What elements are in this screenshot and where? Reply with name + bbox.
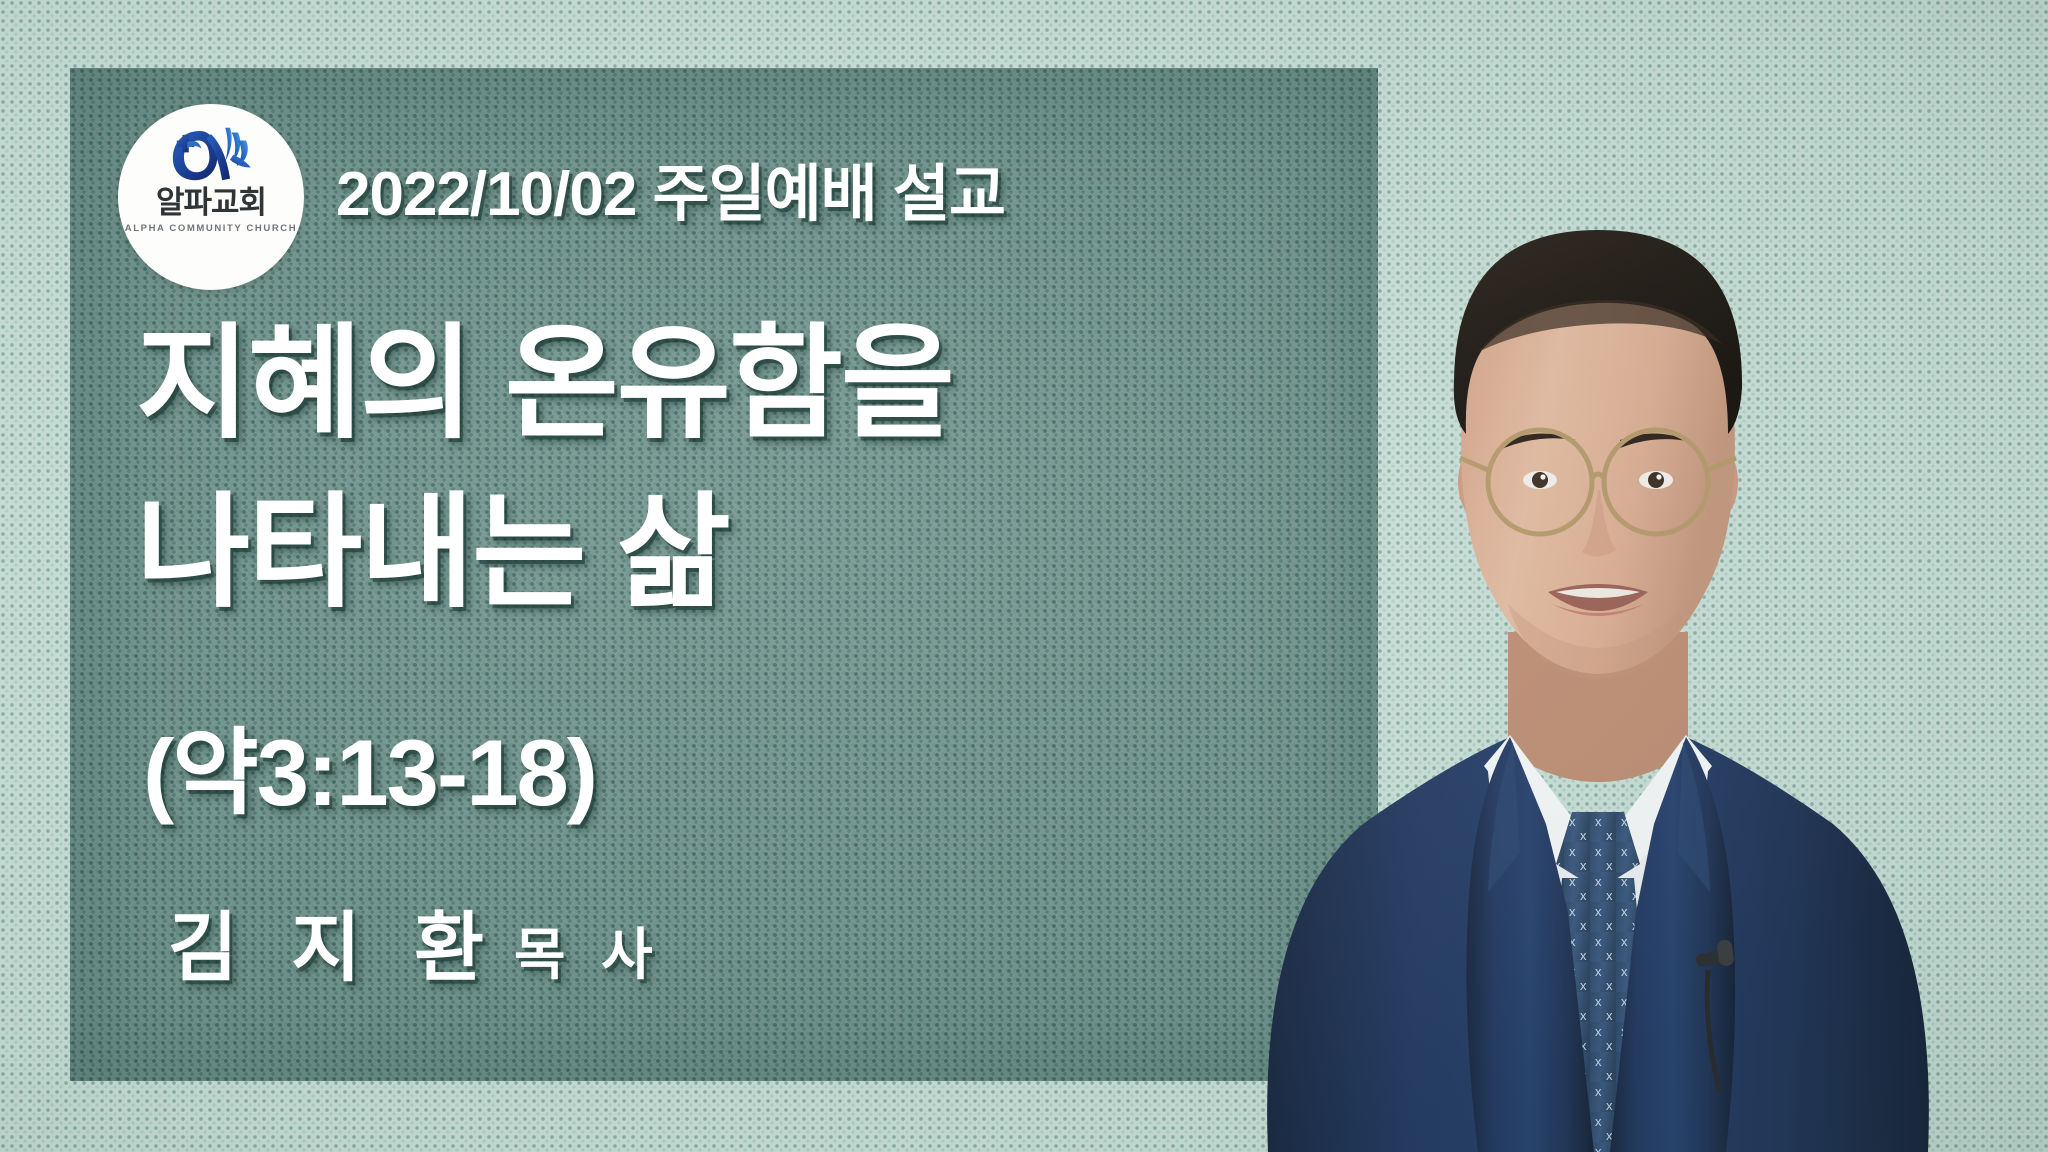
alpha-leaf-icon xyxy=(163,123,259,185)
sermon-title-slide: x x xyxy=(0,0,2048,1152)
speaker-row: 김 지 환 목 사 xyxy=(168,886,663,996)
logo-korean-name: 알파교회 xyxy=(156,187,266,218)
speaker-name: 김 지 환 xyxy=(168,886,500,996)
presenter-photo: x x xyxy=(1148,152,2048,1152)
logo-english-name: ALPHA COMMUNITY CHURCH xyxy=(125,223,297,234)
service-line: 2022/10/02 주일예배 설교 xyxy=(336,143,1005,233)
sermon-title: 지혜의 온유함을 나타내는 삶 xyxy=(136,300,953,637)
scripture-reference: (약3:13-18) xyxy=(143,697,596,833)
church-logo-badge: 알파교회 ALPHA COMMUNITY CHURCH xyxy=(118,104,304,290)
sermon-title-line-2: 나타내는 삶 xyxy=(136,469,953,638)
speaker-title: 목 사 xyxy=(514,910,663,991)
sermon-title-line-1: 지혜의 온유함을 xyxy=(136,300,953,469)
